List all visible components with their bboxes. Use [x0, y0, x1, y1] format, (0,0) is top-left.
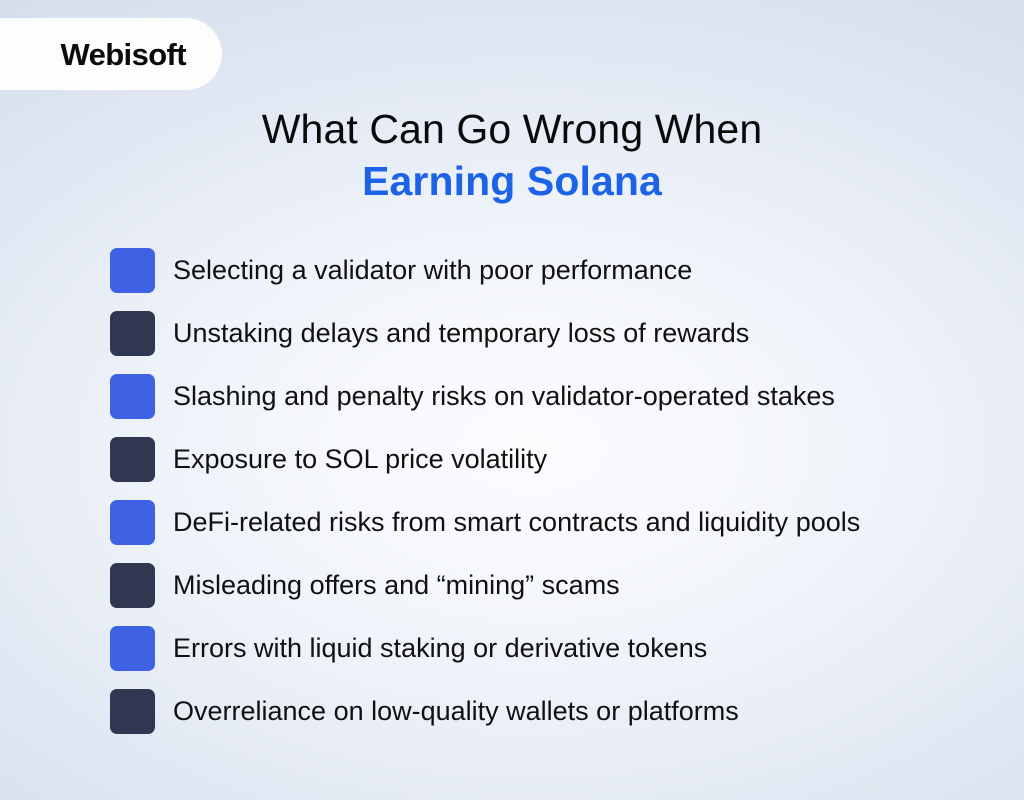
- list-item: Misleading offers and “mining” scams: [110, 563, 1014, 608]
- list-item: Selecting a validator with poor performa…: [110, 248, 1014, 293]
- list-item-label: Errors with liquid staking or derivative…: [173, 626, 707, 671]
- list-item-label: Slashing and penalty risks on validator-…: [173, 374, 835, 419]
- infographic-canvas: Webisoft What Can Go Wrong When Earning …: [0, 0, 1024, 800]
- list-item: Errors with liquid staking or derivative…: [110, 626, 1014, 671]
- bullet-square-icon: [110, 689, 155, 734]
- list-item-label: Selecting a validator with poor performa…: [173, 248, 692, 293]
- bullet-square-icon: [110, 248, 155, 293]
- bullet-square-icon: [110, 563, 155, 608]
- list-item: Unstaking delays and temporary loss of r…: [110, 311, 1014, 356]
- bullet-square-icon: [110, 626, 155, 671]
- list-item-label: Exposure to SOL price volatility: [173, 437, 547, 482]
- page-title: What Can Go Wrong When Earning Solana: [0, 104, 1024, 208]
- list-item-label: DeFi-related risks from smart contracts …: [173, 500, 860, 545]
- page-title-line-1: What Can Go Wrong When: [0, 104, 1024, 154]
- list-item-label: Misleading offers and “mining” scams: [173, 563, 620, 608]
- list-item: DeFi-related risks from smart contracts …: [110, 500, 1014, 545]
- risk-list: Selecting a validator with poor performa…: [110, 248, 1014, 734]
- brand-logo-pill: Webisoft: [0, 18, 222, 90]
- brand-logo-text: Webisoft: [60, 39, 186, 70]
- list-item: Exposure to SOL price volatility: [110, 437, 1014, 482]
- bullet-square-icon: [110, 500, 155, 545]
- list-item-label: Overreliance on low-quality wallets or p…: [173, 689, 739, 734]
- list-item: Overreliance on low-quality wallets or p…: [110, 689, 1014, 734]
- bullet-square-icon: [110, 311, 155, 356]
- page-title-line-2: Earning Solana: [0, 154, 1024, 208]
- bullet-square-icon: [110, 437, 155, 482]
- list-item: Slashing and penalty risks on validator-…: [110, 374, 1014, 419]
- list-item-label: Unstaking delays and temporary loss of r…: [173, 311, 749, 356]
- bullet-square-icon: [110, 374, 155, 419]
